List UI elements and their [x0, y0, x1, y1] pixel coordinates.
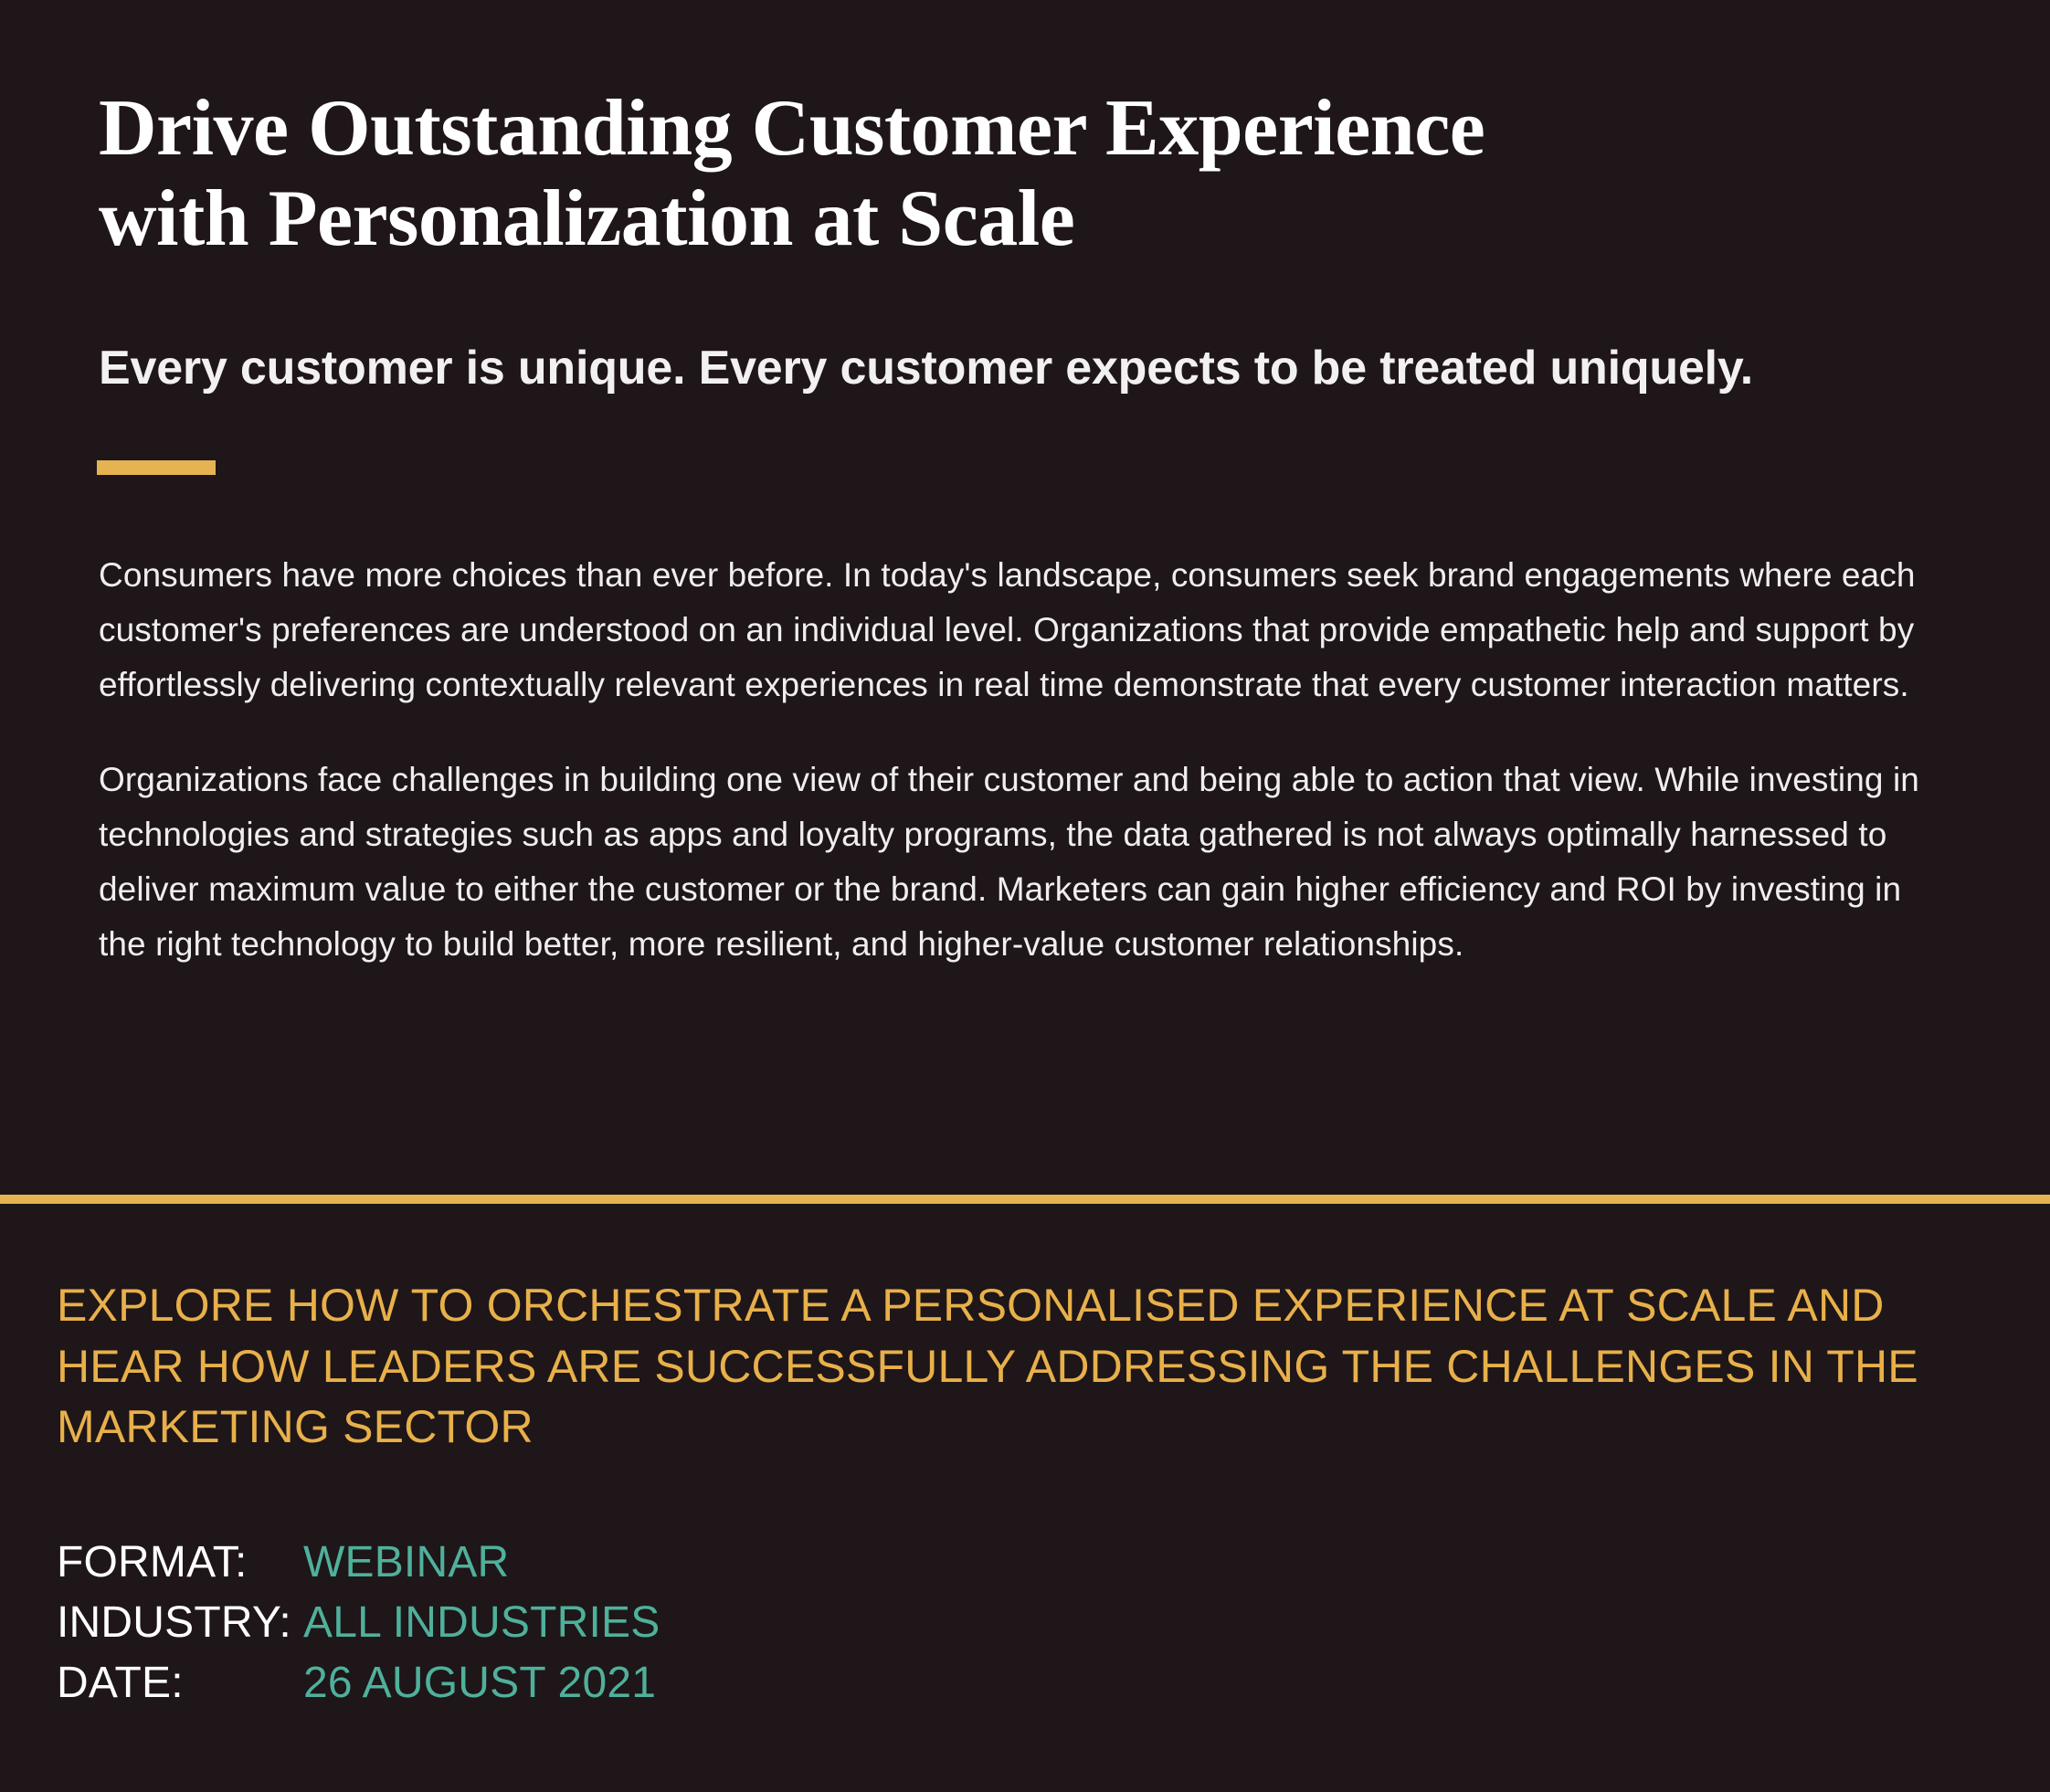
page-title: Drive Outstanding Customer Experience wi…	[99, 84, 1926, 264]
body-copy: Consumers have more choices than ever be…	[99, 548, 1953, 972]
event-meta-list: FORMAT: WEBINAR INDUSTRY: ALL INDUSTRIES…	[57, 1533, 1153, 1713]
promo-headline: EXPLORE HOW TO ORCHESTRATE A PERSONALISE…	[57, 1275, 2002, 1458]
description-section: Drive Outstanding Customer Experience wi…	[0, 0, 2050, 1199]
meta-label-industry: INDUSTRY:	[57, 1593, 303, 1653]
title-block: Drive Outstanding Customer Experience wi…	[99, 84, 1926, 264]
section-divider	[0, 1195, 2050, 1204]
meta-row-industry: INDUSTRY: ALL INDUSTRIES	[57, 1593, 1153, 1653]
body-paragraph: Organizations face challenges in buildin…	[99, 753, 1953, 972]
meta-row-date: DATE: 26 AUGUST 2021	[57, 1653, 1153, 1713]
body-paragraph: Consumers have more choices than ever be…	[99, 548, 1953, 712]
meta-row-format: FORMAT: WEBINAR	[57, 1533, 1153, 1593]
event-promo-card: Drive Outstanding Customer Experience wi…	[0, 0, 2050, 1792]
event-details-section: EXPLORE HOW TO ORCHESTRATE A PERSONALISE…	[0, 1204, 2050, 1792]
meta-label-date: DATE:	[57, 1653, 303, 1713]
meta-label-format: FORMAT:	[57, 1533, 303, 1593]
page-subtitle: Every customer is unique. Every customer…	[99, 340, 1944, 396]
meta-value-format: WEBINAR	[303, 1533, 509, 1593]
meta-value-date: 26 AUGUST 2021	[303, 1653, 656, 1713]
gold-accent-bar	[97, 460, 216, 475]
meta-value-industry: ALL INDUSTRIES	[303, 1593, 660, 1653]
